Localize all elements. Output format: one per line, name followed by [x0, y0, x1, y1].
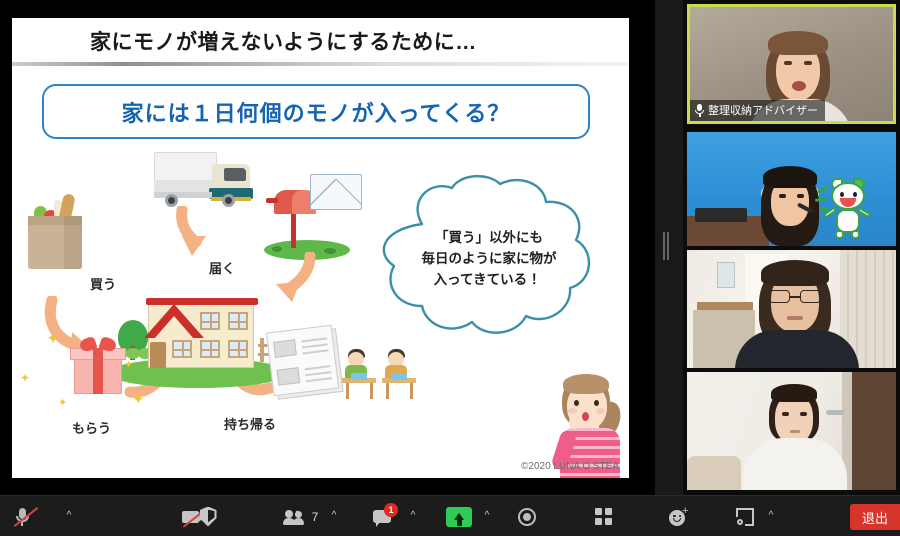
sparkle-icon: ✦	[46, 330, 60, 347]
school-desks-icon	[342, 348, 422, 408]
chat-icon: 1	[373, 508, 393, 525]
gift-box-icon	[70, 338, 126, 396]
video-tile-active-speaker[interactable]: 整理収納アドバイザー	[687, 4, 896, 124]
delivery-truck-icon	[154, 152, 254, 210]
microphone-muted-icon	[15, 507, 30, 527]
security-button[interactable]	[189, 496, 227, 536]
zoom-meeting-window: 家にモノが増えないようにするために… 家には１日何個のモノが入ってくる？ 買う	[0, 0, 900, 536]
mute-button[interactable]	[4, 496, 40, 536]
video-tile[interactable]	[687, 250, 896, 368]
record-button[interactable]	[508, 496, 546, 536]
video-tile[interactable]	[687, 372, 896, 490]
apps-button[interactable]	[585, 496, 623, 536]
video-feed	[687, 250, 896, 368]
shield-icon	[200, 507, 217, 527]
participants-button[interactable]: 7	[272, 496, 330, 536]
participants-icon	[284, 509, 308, 525]
meeting-toolbar: 7 1 +	[0, 495, 900, 536]
house-icon	[108, 286, 288, 392]
slide-illustration: 買う 届く	[12, 146, 629, 478]
title-divider-rule	[12, 62, 629, 66]
participant-video-strip: 整理収納アドバイザー	[683, 0, 900, 495]
thought-bubble: 「買う」以外にも 毎日のように家に物が 入ってきている ！	[364, 172, 614, 352]
share-screen-button[interactable]	[440, 496, 478, 536]
thought-line-3: 入ってきている ！	[392, 270, 586, 291]
mic-icon	[695, 104, 704, 116]
video-tile[interactable]	[687, 132, 896, 246]
reactions-button[interactable]: +	[660, 496, 698, 536]
chat-caret-icon[interactable]	[404, 496, 422, 536]
sparkle-icon: ✦	[58, 398, 67, 409]
chat-unread-badge: 1	[384, 503, 398, 517]
reactions-icon: +	[669, 508, 689, 526]
sparkle-icon: ✦	[124, 360, 133, 371]
participants-count: 7	[312, 510, 319, 524]
leave-meeting-button[interactable]: 退出	[850, 504, 900, 530]
slide-title-bar: 家にモノが増えないようにするために…	[12, 18, 629, 62]
newspaper-icon	[266, 324, 348, 404]
label-receive: もらう	[72, 418, 111, 437]
breakout-caret-icon[interactable]	[762, 496, 780, 536]
sparkle-icon: ✦	[20, 372, 30, 384]
slide-title: 家にモノが増えないようにするために…	[90, 26, 477, 56]
chat-button[interactable]: 1	[364, 496, 402, 536]
share-screen-icon	[446, 507, 472, 527]
divider-grip-handle[interactable]	[663, 232, 669, 260]
arrow-truck-to-house	[174, 206, 224, 262]
panel-divider[interactable]	[655, 0, 683, 495]
sparkle-icon: ✦	[132, 392, 145, 407]
record-icon	[518, 508, 536, 526]
participants-caret-icon[interactable]	[325, 496, 343, 536]
breakout-rooms-icon	[736, 508, 754, 526]
apps-grid-icon	[595, 508, 613, 526]
share-options-caret-icon[interactable]	[478, 496, 496, 536]
participant-name: 整理収納アドバイザー	[708, 102, 818, 118]
audio-options-caret-icon[interactable]	[60, 496, 78, 536]
slide-question-text: 家には１日何個のモノが入ってくる？	[122, 96, 511, 128]
grocery-bag-icon	[24, 194, 86, 269]
label-bring-home: 持ち帰る	[224, 414, 276, 433]
envelope-icon	[310, 174, 362, 210]
presentation-slide: 家にモノが増えないようにするために… 家には１日何個のモノが入ってくる？ 買う	[12, 18, 629, 478]
thought-line-1: 「買う」以外にも	[392, 228, 586, 249]
mascot-character-icon	[827, 182, 873, 240]
breakout-rooms-button[interactable]	[726, 496, 764, 536]
slide-copyright: ©2020 LUNA O STEA	[521, 461, 619, 472]
slide-question-box: 家には１日何個のモノが入ってくる？	[42, 84, 590, 139]
video-feed	[687, 132, 896, 246]
video-feed	[687, 372, 896, 490]
shared-screen-area[interactable]: 家にモノが増えないようにするために… 家には１日何個のモノが入ってくる？ 買う	[0, 0, 655, 495]
thought-bubble-text: 「買う」以外にも 毎日のように家に物が 入ってきている ！	[392, 228, 586, 291]
thought-line-2: 毎日のように家に物が	[392, 249, 586, 270]
participant-name-tag: 整理収納アドバイザー	[690, 100, 825, 121]
